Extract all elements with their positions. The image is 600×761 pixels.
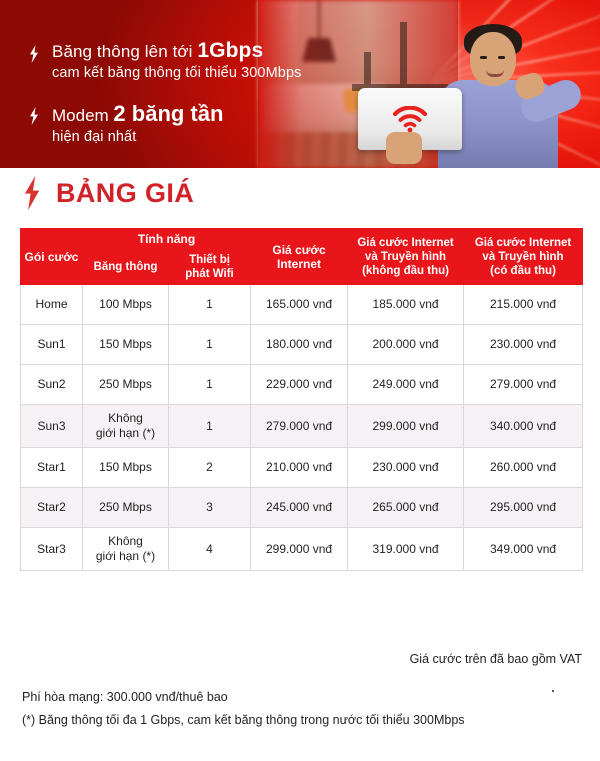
cell-combo-box: 349.000 vnđ xyxy=(464,528,583,571)
table-row: Home100 Mbps1165.000 vnđ185.000 vnđ215.0… xyxy=(21,285,583,325)
table-row: Star1150 Mbps2210.000 vnđ230.000 vnđ260.… xyxy=(21,448,583,488)
cell-wifi-device: 1 xyxy=(169,365,251,405)
cell-combo-no-box: 299.000 vnđ xyxy=(348,405,464,448)
cell-bandwidth-line1: Không xyxy=(85,411,166,426)
banner-bullet-1: Băng thông lên tới 1Gbps cam kết băng th… xyxy=(28,40,301,84)
bullet1-prefix: Băng thông lên tới xyxy=(52,42,197,61)
cell-bandwidth: 150 Mbps xyxy=(83,325,169,365)
th-combo-no-box-l3: (không đầu thu) xyxy=(350,264,461,278)
person-head xyxy=(470,32,516,86)
cell-combo-box: 279.000 vnđ xyxy=(464,365,583,405)
cell-bandwidth: 150 Mbps xyxy=(83,448,169,488)
bullet1-highlight: 1Gbps xyxy=(197,39,263,62)
cell-wifi-device: 1 xyxy=(169,405,251,448)
cell-wifi-device: 2 xyxy=(169,448,251,488)
person-supporting-hand xyxy=(386,132,422,164)
banner-bullet-2-line1: Modem 2 băng tần xyxy=(52,102,223,127)
cell-combo-no-box: 249.000 vnđ xyxy=(348,365,464,405)
cell-bandwidth: 250 Mbps xyxy=(83,365,169,405)
cell-combo-no-box: 185.000 vnđ xyxy=(348,285,464,325)
cell-package: Sun3 xyxy=(21,405,83,448)
cell-package: Sun2 xyxy=(21,365,83,405)
cell-combo-no-box: 265.000 vnđ xyxy=(348,488,464,528)
cell-combo-box: 295.000 vnđ xyxy=(464,488,583,528)
cell-combo-box: 340.000 vnđ xyxy=(464,405,583,448)
cell-bandwidth-line1: Không xyxy=(85,534,166,549)
cell-package: Sun1 xyxy=(21,325,83,365)
cell-internet-price: 180.000 vnđ xyxy=(251,325,348,365)
banner-bullet-2-line2: hiện đại nhất xyxy=(52,127,223,148)
banner-copy: Băng thông lên tới 1Gbps cam kết băng th… xyxy=(28,40,301,162)
banner-bullet-1-line2: cam kết băng thông tối thiểu 300Mbps xyxy=(52,63,301,84)
table-row: Sun3Khônggiới hạn (*)1279.000 vnđ299.000… xyxy=(21,405,583,448)
th-combo-box-l3: (có đầu thu) xyxy=(466,264,580,278)
wifi-icon xyxy=(393,106,427,132)
th-combo-no-box-l2: và Truyền hình xyxy=(350,250,461,264)
table-row: Star3Khônggiới hạn (*)4299.000 vnđ319.00… xyxy=(21,528,583,571)
cell-combo-box: 230.000 vnđ xyxy=(464,325,583,365)
cell-bandwidth: 250 Mbps xyxy=(83,488,169,528)
cell-bandwidth: 100 Mbps xyxy=(83,285,169,325)
cell-package: Star3 xyxy=(21,528,83,571)
cell-combo-no-box: 319.000 vnđ xyxy=(348,528,464,571)
th-internet-price: Giá cước Internet xyxy=(251,229,348,285)
th-internet-price-l1: Giá cước xyxy=(253,243,345,257)
cell-internet-price: 299.000 vnđ xyxy=(251,528,348,571)
cell-combo-box: 260.000 vnđ xyxy=(464,448,583,488)
banner-bullet-2: Modem 2 băng tần hiện đại nhất xyxy=(28,102,301,148)
cell-combo-no-box: 200.000 vnđ xyxy=(348,325,464,365)
th-wifi-device: Thiết bị phát Wifi xyxy=(169,250,251,285)
th-combo-box-l1: Giá cước Internet xyxy=(466,236,580,250)
promo-banner: Băng thông lên tới 1Gbps cam kết băng th… xyxy=(0,0,600,168)
th-bandwidth: Băng thông xyxy=(83,250,169,285)
cell-internet-price: 245.000 vnđ xyxy=(251,488,348,528)
footnote-bandwidth: (*) Băng thông tối đa 1 Gbps, cam kết bă… xyxy=(22,709,465,732)
th-features-group: Tính năng xyxy=(83,229,251,250)
th-combo-no-box-l1: Giá cước Internet xyxy=(350,236,461,250)
banner-bullet-1-line1: Băng thông lên tới 1Gbps xyxy=(52,40,301,63)
price-table: Gói cước Tính năng Giá cước Internet Giá… xyxy=(20,228,583,571)
cell-wifi-device: 4 xyxy=(169,528,251,571)
vat-note: Giá cước trên đã bao gồm VAT xyxy=(410,652,582,666)
cell-bandwidth-line2: giới hạn (*) xyxy=(85,426,166,441)
cell-internet-price: 279.000 vnđ xyxy=(251,405,348,448)
price-table-wrapper: Gói cước Tính năng Giá cước Internet Giá… xyxy=(20,228,582,571)
cell-internet-price: 210.000 vnđ xyxy=(251,448,348,488)
footnote-install-fee: Phí hòa mạng: 300.000 vnđ/thuê bao xyxy=(22,686,465,709)
cell-bandwidth: Khônggiới hạn (*) xyxy=(83,528,169,571)
table-row: Star2250 Mbps3245.000 vnđ265.000 vnđ295.… xyxy=(21,488,583,528)
th-wifi-device-l2: phát Wifi xyxy=(171,267,248,281)
bolt-icon xyxy=(22,176,42,210)
th-combo-no-box: Giá cước Internet và Truyền hình (không … xyxy=(348,229,464,285)
cell-internet-price: 229.000 vnđ xyxy=(251,365,348,405)
th-combo-box: Giá cước Internet và Truyền hình (có đầu… xyxy=(464,229,583,285)
table-header-row-1: Gói cước Tính năng Giá cước Internet Giá… xyxy=(21,229,583,250)
cell-package: Home xyxy=(21,285,83,325)
footnotes: Phí hòa mạng: 300.000 vnđ/thuê bao (*) B… xyxy=(22,686,465,732)
table-row: Sun2250 Mbps1229.000 vnđ249.000 vnđ279.0… xyxy=(21,365,583,405)
th-internet-price-l2: Internet xyxy=(253,257,345,271)
cell-bandwidth: Khônggiới hạn (*) xyxy=(83,405,169,448)
cell-bandwidth-line2: giới hạn (*) xyxy=(85,549,166,564)
cell-wifi-device: 3 xyxy=(169,488,251,528)
bullet2-prefix: Modem xyxy=(52,106,113,125)
th-wifi-device-l1: Thiết bị xyxy=(171,253,248,267)
bolt-icon xyxy=(28,45,40,63)
cell-internet-price: 165.000 vnđ xyxy=(251,285,348,325)
cell-combo-box: 215.000 vnđ xyxy=(464,285,583,325)
table-body: Home100 Mbps1165.000 vnđ185.000 vnđ215.0… xyxy=(21,285,583,571)
table-row: Sun1150 Mbps1180.000 vnđ200.000 vnđ230.0… xyxy=(21,325,583,365)
section-header: BẢNG GIÁ xyxy=(22,176,194,210)
table-head: Gói cước Tính năng Giá cước Internet Giá… xyxy=(21,229,583,285)
stray-dot xyxy=(552,690,554,692)
page-root: Băng thông lên tới 1Gbps cam kết băng th… xyxy=(0,0,600,761)
th-combo-box-l2: và Truyền hình xyxy=(466,250,580,264)
page-title: BẢNG GIÁ xyxy=(56,178,194,209)
bolt-icon xyxy=(28,107,40,125)
cell-combo-no-box: 230.000 vnđ xyxy=(348,448,464,488)
cell-wifi-device: 1 xyxy=(169,285,251,325)
cell-package: Star1 xyxy=(21,448,83,488)
cell-wifi-device: 1 xyxy=(169,325,251,365)
cell-package: Star2 xyxy=(21,488,83,528)
th-package: Gói cước xyxy=(21,229,83,285)
bullet2-highlight: 2 băng tần xyxy=(113,101,223,126)
